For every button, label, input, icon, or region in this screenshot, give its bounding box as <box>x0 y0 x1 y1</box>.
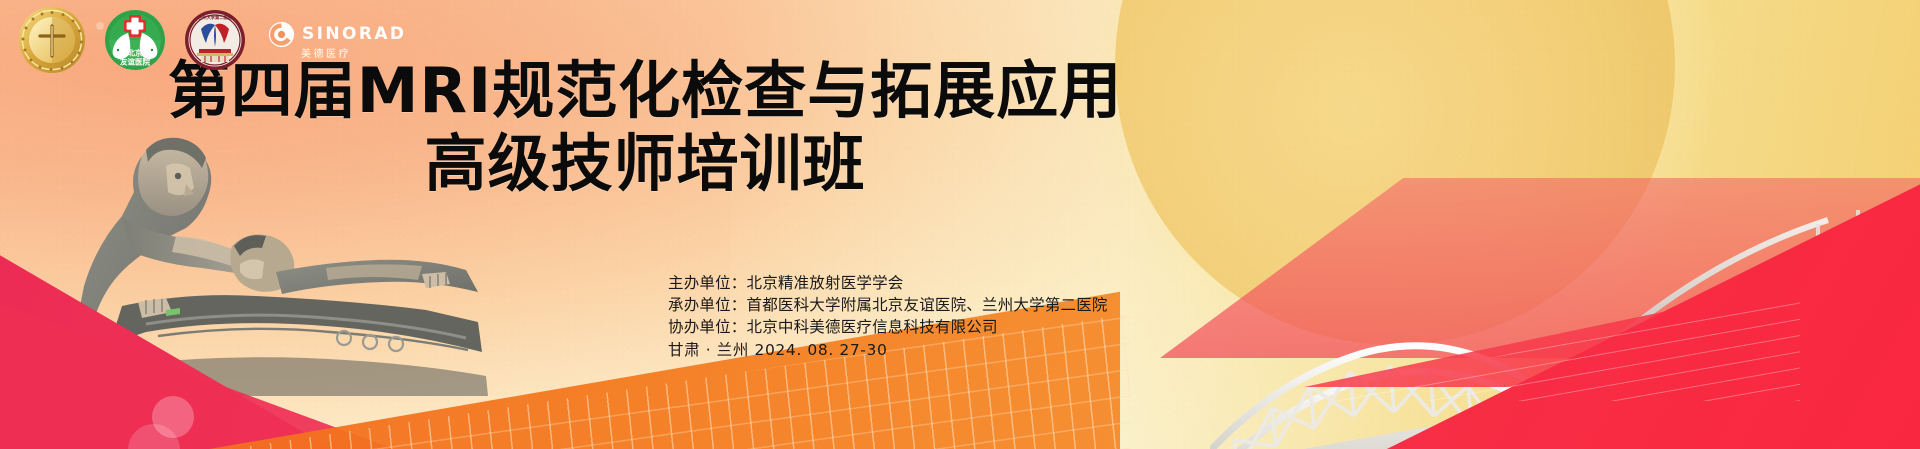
svg-text:友谊医院: 友谊医院 <box>119 57 150 67</box>
beijing-friendship-hospital-logo: 北京 友谊医院 <box>104 9 166 71</box>
organizer-line-coorganizer: 协办单位：北京中科美德医疗信息科技有限公司 <box>668 316 1108 338</box>
sinorad-chinese-name: 美德医疗 <box>301 50 351 60</box>
svg-text:兰州大学第二医院: 兰州大学第二医院 <box>198 14 232 21</box>
beijing-precision-radiology-society-logo <box>18 6 86 74</box>
organizer-info-block: 主办单位：北京精准放射医学学会 承办单位：首都医科大学附属北京友谊医院、兰州大学… <box>668 272 1108 361</box>
page-title-line-2: 高级技师培训班 <box>0 131 1290 196</box>
lanzhou-university-second-hospital-logo: 兰州大学第二医院 <box>184 9 246 71</box>
svg-text:北京: 北京 <box>128 48 143 58</box>
event-location-date: 甘肃 · 兰州 2024. 08. 27-30 <box>668 339 1108 361</box>
organizer-line-host: 主办单位：北京精准放射医学学会 <box>668 272 1108 294</box>
sinorad-logo: SINORAD 美德医疗 <box>268 21 406 60</box>
organizer-line-undertaker: 承办单位：首都医科大学附属北京友谊医院、兰州大学第二医院 <box>668 294 1108 316</box>
title-block: 第四届MRI规范化检查与拓展应用 高级技师培训班 <box>0 58 1290 196</box>
logo-row: 北京 友谊医院 兰州大学第二医院 <box>18 6 406 74</box>
sinorad-mark-icon <box>268 21 295 48</box>
sinorad-wordmark: SINORAD <box>302 26 406 43</box>
conference-banner: 北京 友谊医院 兰州大学第二医院 <box>0 0 1920 449</box>
